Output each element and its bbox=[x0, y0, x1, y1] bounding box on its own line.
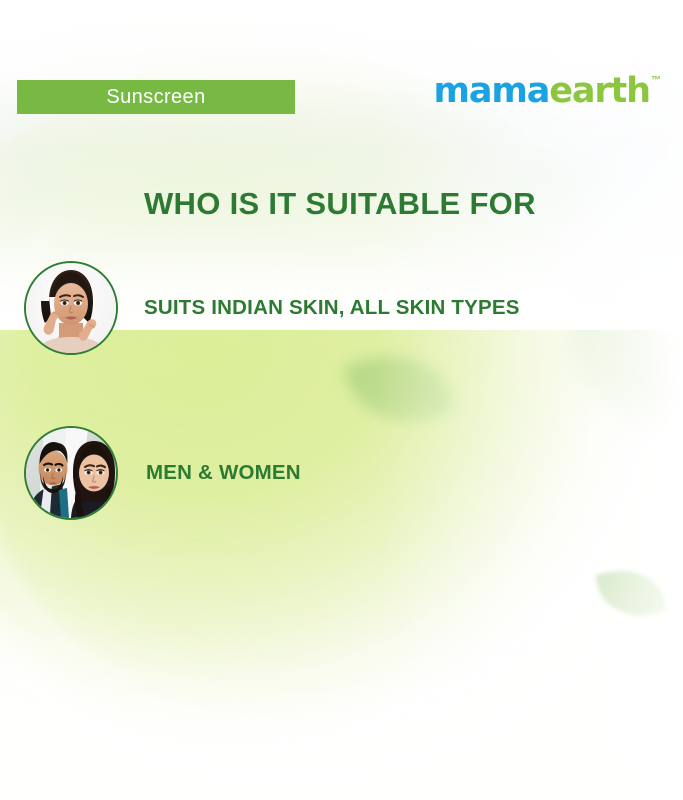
avatar bbox=[24, 261, 118, 355]
woman-touching-face-photo bbox=[26, 263, 116, 353]
brand-logo: mama earth ™ bbox=[433, 74, 661, 109]
feature-label: SUITS INDIAN SKIN, ALL SKIN TYPES bbox=[144, 298, 520, 319]
brand-logo-mama-text: mama bbox=[433, 74, 549, 109]
avatar bbox=[24, 426, 118, 520]
feature-row: MEN & WOMEN bbox=[24, 426, 301, 520]
sunscreen-suitability-infographic: Sunscreen mama earth ™ WHO IS IT SUITABL… bbox=[0, 0, 683, 800]
feature-row: SUITS INDIAN SKIN, ALL SKIN TYPES bbox=[24, 261, 520, 355]
page-title: WHO IS IT SUITABLE FOR bbox=[144, 188, 536, 219]
category-badge-label: Sunscreen bbox=[106, 87, 205, 107]
category-badge: Sunscreen bbox=[17, 80, 295, 114]
trademark-icon: ™ bbox=[651, 76, 661, 86]
brand-logo-earth-text: earth bbox=[549, 74, 650, 109]
feature-label: MEN & WOMEN bbox=[146, 463, 301, 484]
man-and-woman-couple-photo bbox=[26, 428, 116, 518]
